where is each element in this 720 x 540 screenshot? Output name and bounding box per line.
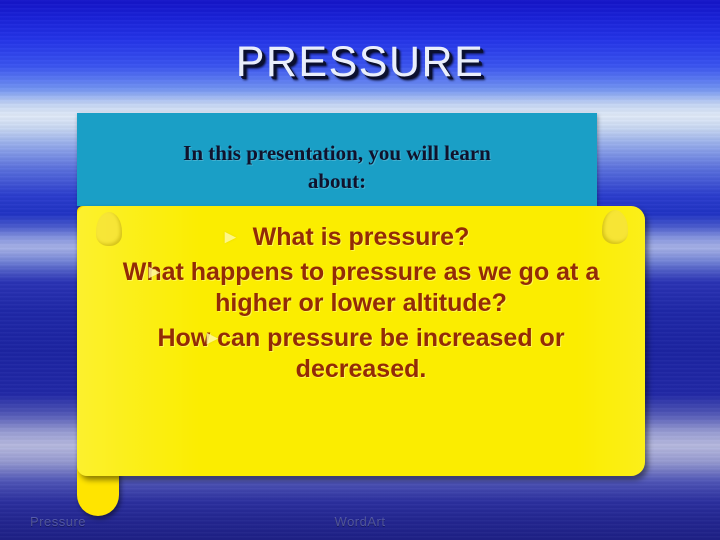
triangle-bullet-icon: ► bbox=[221, 222, 240, 253]
intro-banner-line-2: about: bbox=[87, 167, 587, 195]
slide-title: PRESSURE bbox=[0, 38, 720, 87]
list-item: ► What is pressure? bbox=[103, 222, 619, 253]
presentation-slide: PRESSURE In this presentation, you will … bbox=[0, 0, 720, 540]
bullet-list: ► What is pressure? ► What happens to pr… bbox=[77, 206, 645, 476]
footer-center-text: WordArt bbox=[0, 514, 720, 529]
intro-banner-line-1: In this presentation, you will learn bbox=[87, 139, 587, 167]
triangle-bullet-icon: ► bbox=[203, 323, 222, 354]
list-item-label: What is pressure? bbox=[253, 223, 470, 251]
yellow-scroll-banner: ► What is pressure? ► What happens to pr… bbox=[62, 196, 652, 516]
list-item-label: What happens to pressure as we go at a h… bbox=[123, 258, 600, 317]
list-item: ► What happens to pressure as we go at a… bbox=[103, 257, 619, 319]
list-item: ► How can pressure be increased or decre… bbox=[103, 323, 619, 385]
triangle-bullet-icon: ► bbox=[145, 257, 164, 288]
intro-banner-text: In this presentation, you will learn abo… bbox=[87, 139, 587, 195]
intro-banner: In this presentation, you will learn abo… bbox=[77, 113, 597, 206]
